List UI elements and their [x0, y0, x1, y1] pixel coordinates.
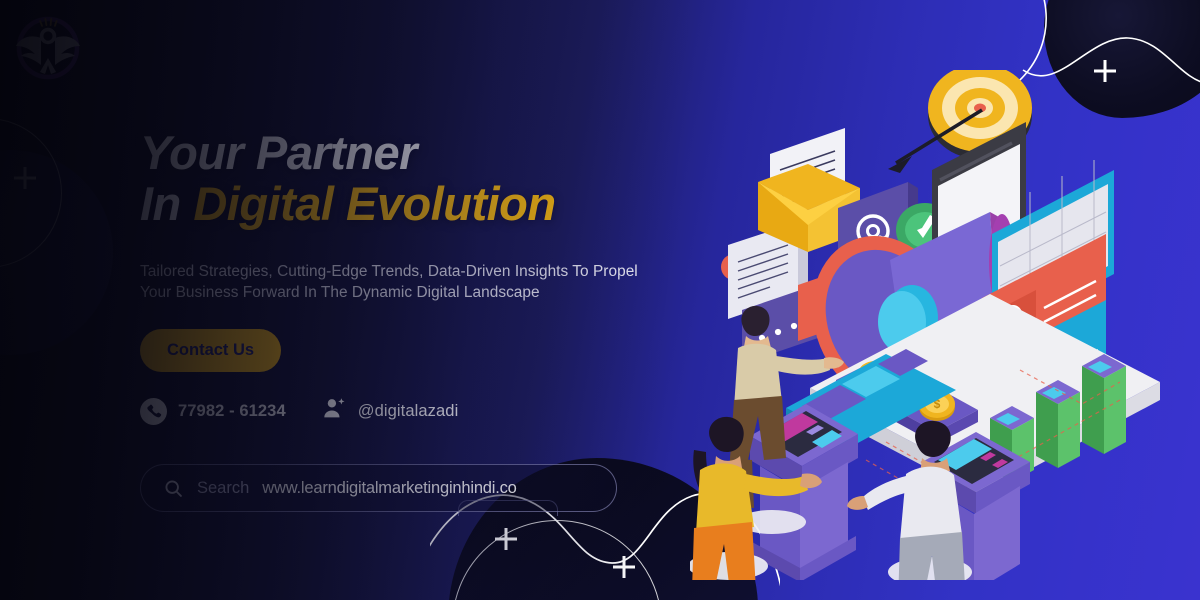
- decorative-plus-icon: [14, 167, 36, 189]
- decorative-plus-icon: [613, 556, 635, 578]
- search-label: Search: [197, 479, 249, 498]
- decorative-circle-outline-left: [0, 118, 62, 268]
- search-input[interactable]: Search www.learndigitalmarketinginhindi.…: [140, 464, 617, 512]
- isometric-digital-marketing-illustration: $ $: [690, 70, 1190, 580]
- headline-line-2-prefix: In: [140, 177, 193, 230]
- hero-banner: Your Partner In Digital Evolution Tailor…: [0, 0, 1200, 600]
- add-user-icon: [322, 396, 347, 426]
- social-handle: @digitalazadi: [358, 402, 459, 421]
- contact-row: 77982 - 61234 @digitalazadi: [140, 396, 680, 426]
- phone-icon: [140, 398, 167, 425]
- headline-line-2-accent: Digital Evolution: [193, 177, 555, 230]
- phone-contact[interactable]: 77982 - 61234: [140, 398, 286, 425]
- search-icon: [163, 478, 184, 499]
- search-url-value: www.learndigitalmarketinginhindi.co: [262, 479, 516, 498]
- social-contact[interactable]: @digitalazadi: [322, 396, 459, 426]
- page-title: Your Partner In Digital Evolution: [140, 128, 680, 230]
- hero-content: Your Partner In Digital Evolution Tailor…: [140, 128, 680, 512]
- decorative-circle-outline-bottom: [452, 520, 662, 600]
- phone-number: 77982 - 61234: [178, 402, 286, 421]
- decorative-plus-icon: [495, 528, 517, 550]
- headline-line-1: Your Partner: [140, 126, 417, 179]
- digital-azadi-logo[interactable]: [10, 8, 86, 84]
- decorative-blob-left: [0, 150, 113, 355]
- contact-us-button[interactable]: Contact Us: [140, 329, 281, 372]
- hero-subtitle: Tailored Strategies, Cutting-Edge Trends…: [140, 261, 655, 305]
